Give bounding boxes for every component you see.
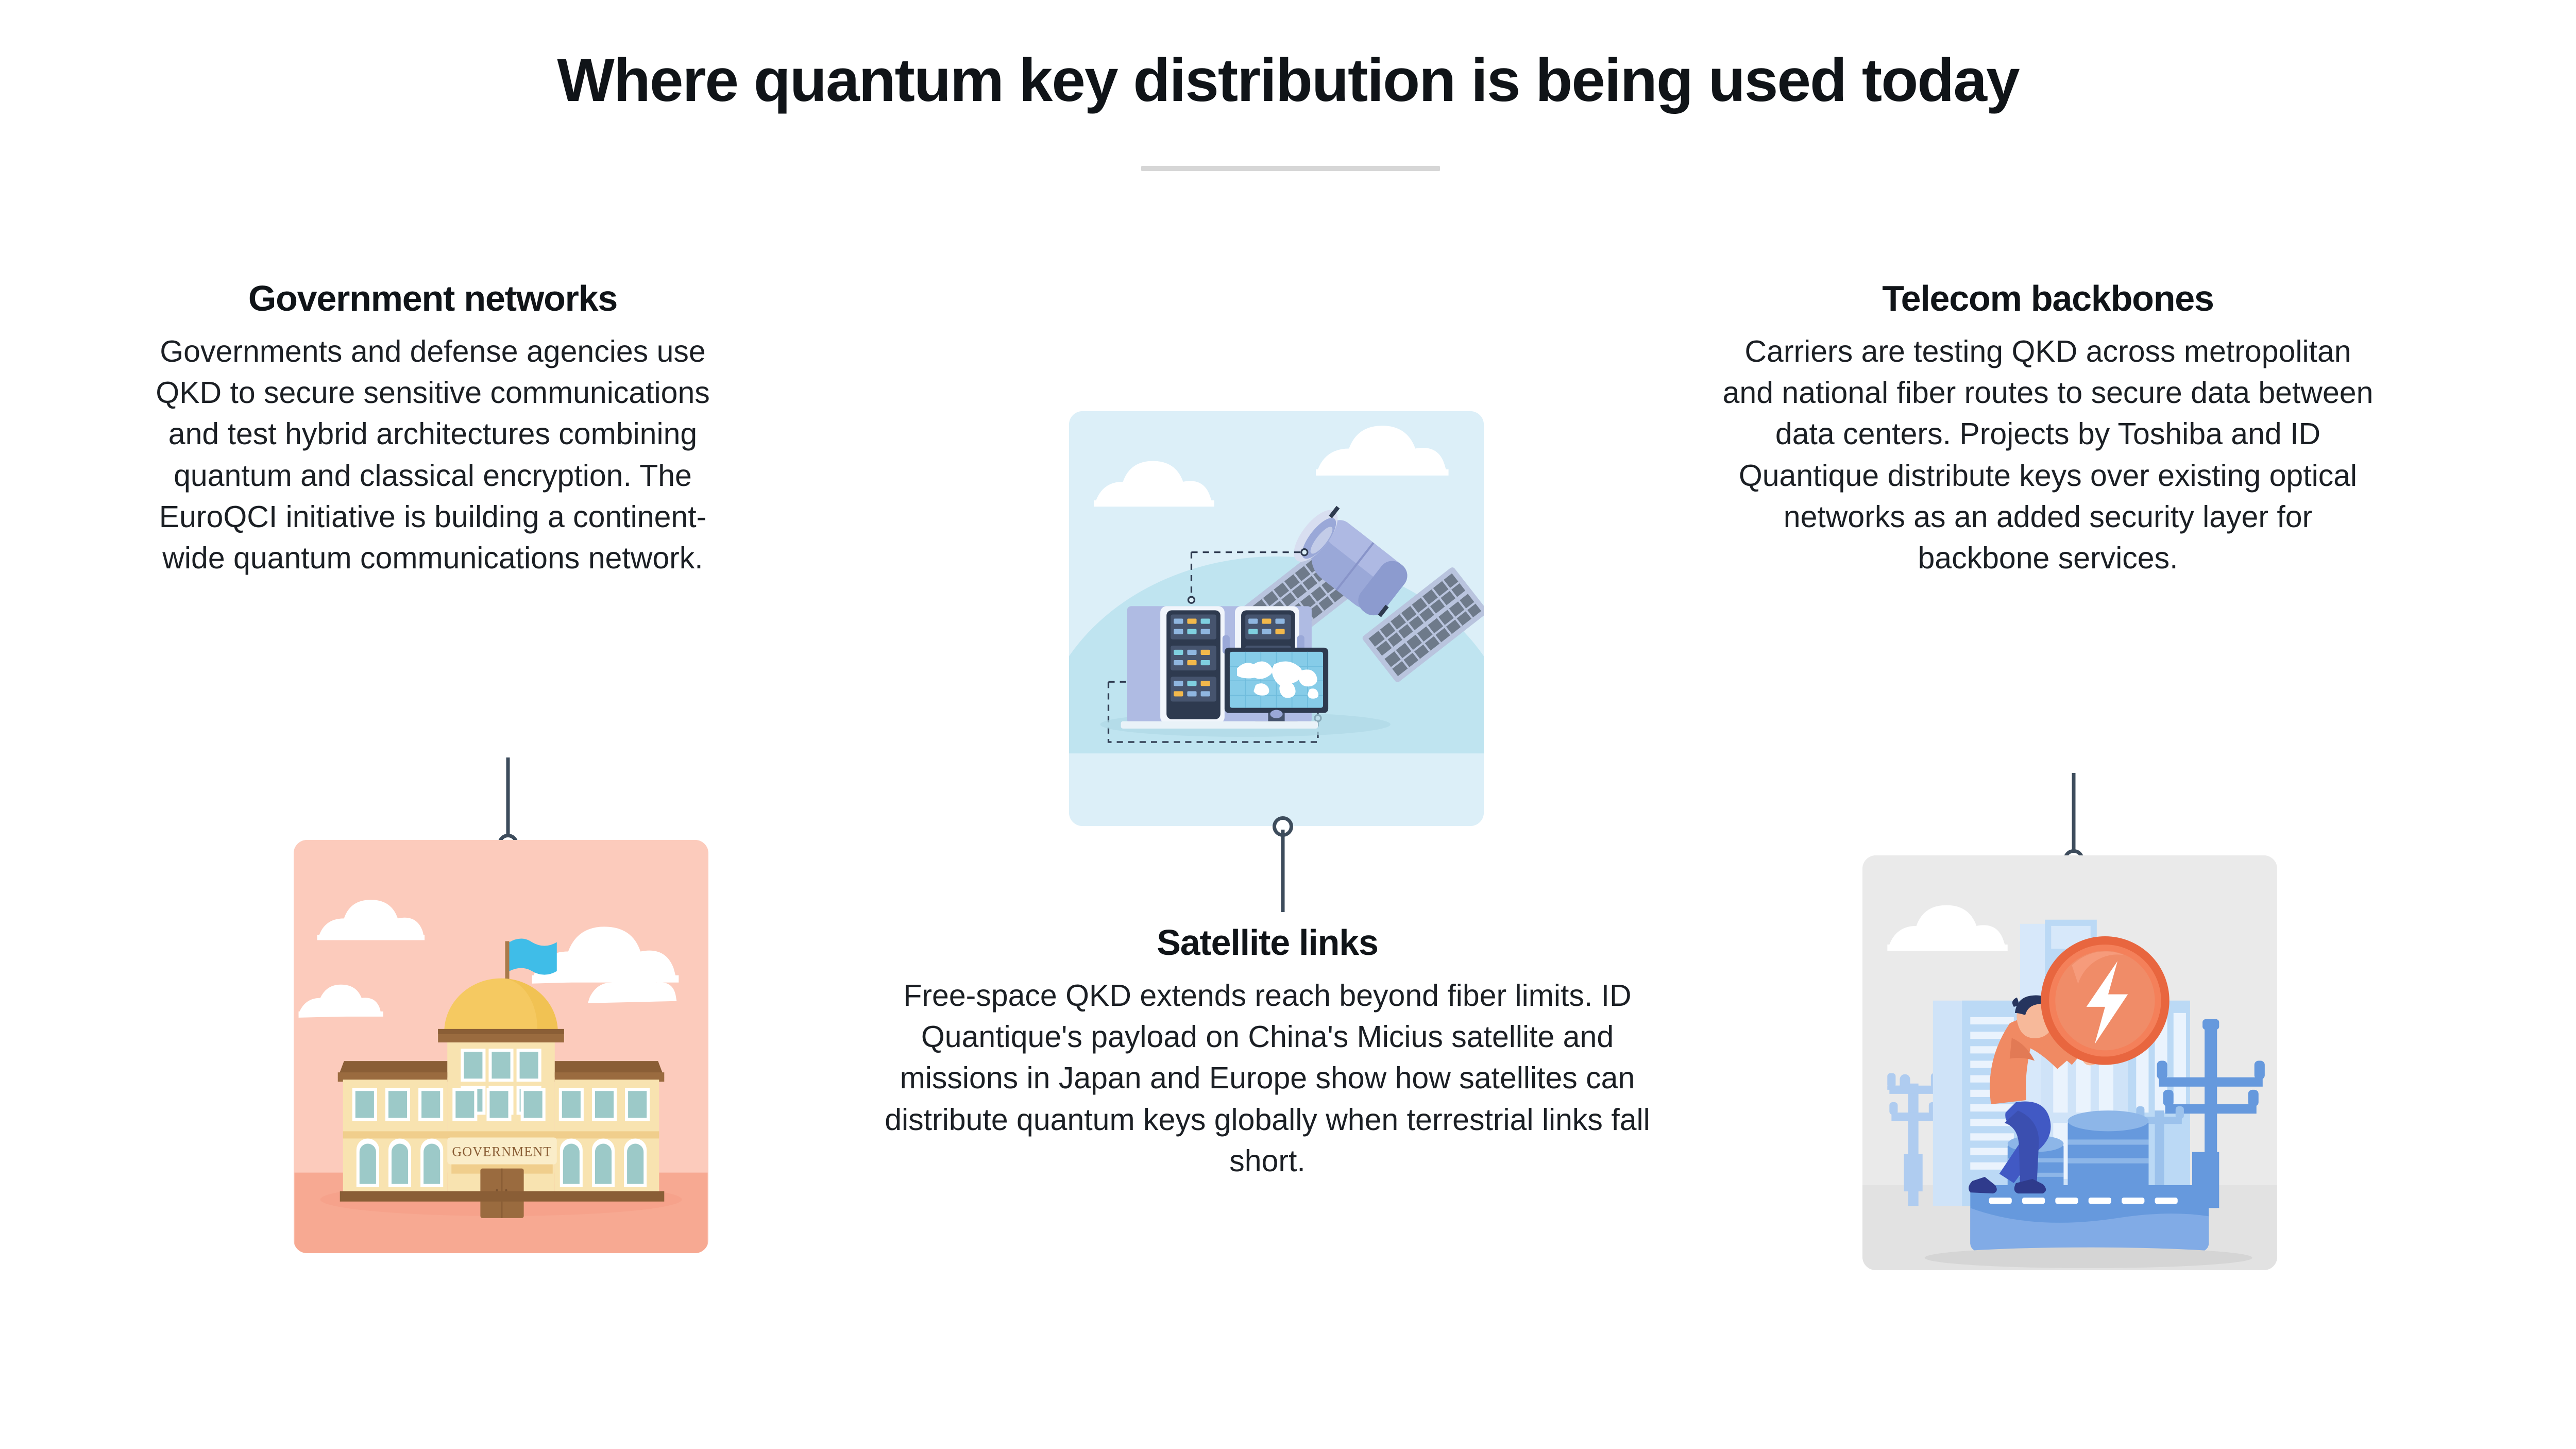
connector-satellite [1273,820,1293,911]
column-government-networks: Government networks Governments and defe… [129,278,737,579]
government-sign-label: GOVERNMENT [452,1144,552,1159]
column-body-telecom: Carriers are testing QKD across metropol… [1716,331,2380,579]
column-body-government: Governments and defense agencies use QKD… [129,331,737,579]
government-building-illustration: GOVERNMENT [294,840,708,1253]
connector-telecom [2063,773,2084,866]
connector-government [498,757,518,850]
column-telecom-backbones: Telecom backbones Carriers are testing Q… [1716,278,2380,579]
column-heading-telecom: Telecom backbones [1716,278,2380,319]
telecom-power-illustration [1862,855,2277,1270]
column-satellite-links: Satellite links Free-space QKD extends r… [866,922,1669,1182]
column-body-satellite: Free-space QKD extends reach beyond fibe… [866,975,1669,1182]
connector-stem [1281,830,1285,912]
page-title: Where quantum key distribution is being … [0,47,2576,114]
satellite-datacenter-illustration [1069,411,1484,826]
column-heading-satellite: Satellite links [866,922,1669,964]
title-divider [1141,166,1440,171]
column-heading-government: Government networks [129,278,737,319]
